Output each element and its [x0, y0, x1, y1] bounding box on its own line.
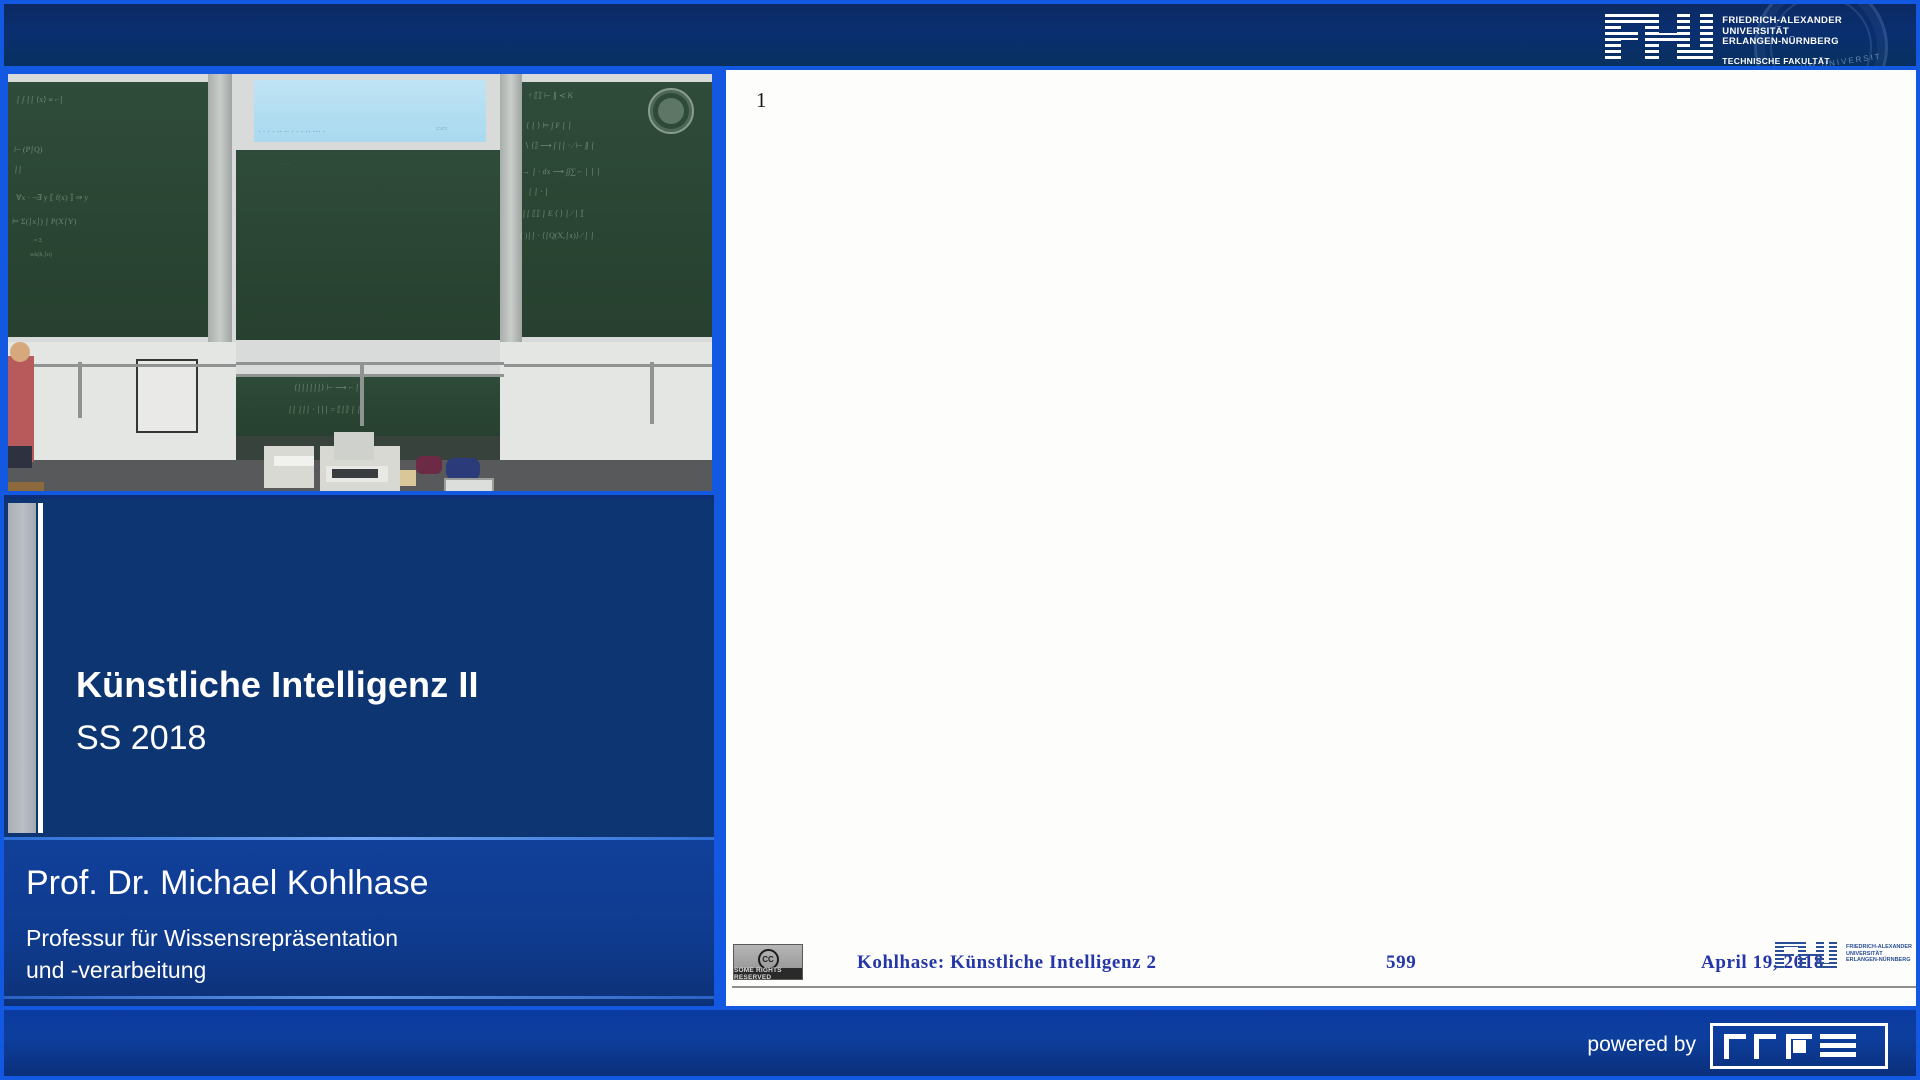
video-university-seal-icon — [648, 88, 694, 134]
fau-footer-line-2: UNIVERSITÄT — [1846, 951, 1883, 957]
slide-footer-title: Kohlhase: Künstliche Intelligenz 2 — [857, 952, 1157, 974]
fau-footer-line-3: ERLANGEN-NÜRNBERG — [1846, 957, 1910, 963]
department-line-1: Professur für Wissensrepräsentation — [26, 925, 398, 951]
player-window: SIGILLUM UNIVERSITATIS FRIDERICO FRIEDRI… — [0, 0, 1920, 1080]
fau-wordmark: FRIEDRICH-ALEXANDER UNIVERSITÄT ERLANGEN… — [1722, 14, 1842, 66]
rrze-logo-icon[interactable] — [1710, 1023, 1888, 1069]
lecturer-name: Prof. Dr. Michael Kohlhase — [26, 864, 429, 903]
fau-faculty: TECHNISCHE FAKULTÄT — [1722, 56, 1842, 67]
slide-footer: CC SOME RIGHTS RESERVED Kohlhase: Künstl… — [726, 938, 1920, 1006]
slide-content-area — [726, 120, 1920, 938]
fau-line-3: ERLANGEN-NÜRNBERG — [1722, 36, 1838, 47]
slide-number: 1 — [756, 88, 767, 113]
course-term: SS 2018 — [76, 719, 206, 758]
fau-line-2: UNIVERSITÄT — [1722, 26, 1789, 37]
fau-footer-line-1: FRIEDRICH-ALEXANDER — [1846, 944, 1912, 950]
slide-canvas[interactable]: 1 CC SOME RIGHTS RESERVED Kohlhase: Küns… — [726, 70, 1920, 1006]
app-header: SIGILLUM UNIVERSITATIS FRIDERICO FRIEDRI… — [4, 4, 1916, 70]
lecturer-pane: Prof. Dr. Michael Kohlhase Professur für… — [4, 840, 716, 1006]
accent-gray-bar — [8, 503, 36, 833]
slide-footer-rule — [732, 986, 1916, 988]
course-title-block: Künstliche Intelligenz II SS 2018 Prof. … — [4, 499, 716, 1006]
fau-logo-header: FRIEDRICH-ALEXANDER UNIVERSITÄT ERLANGEN… — [1605, 14, 1842, 66]
fau-logo-slide-footer: FRIEDRICH-ALEXANDER UNIVERSITÄT ERLANGEN… — [1775, 942, 1912, 969]
app-bottom-bar: powered by — [4, 1006, 1916, 1076]
powered-by-label: powered by — [1587, 1033, 1696, 1057]
left-column: ∣ ∫ ∣∣ ⟨x⟩ ≡ ⌐∣ ⊢ (P∣Q) ∣∣ ∀x · ¬∃ y ⟦ f… — [4, 70, 716, 1006]
fau-line-1: FRIEDRICH-ALEXANDER — [1722, 15, 1842, 26]
video-scene: ∣ ∫ ∣∣ ⟨x⟩ ≡ ⌐∣ ⊢ (P∣Q) ∣∣ ∀x · ¬∃ y ⟦ f… — [8, 74, 712, 491]
fau-wordmark-footer: FRIEDRICH-ALEXANDER UNIVERSITÄT ERLANGEN… — [1846, 942, 1912, 964]
cc-rights-label: SOME RIGHTS RESERVED — [734, 968, 802, 979]
title-pane: Künstliche Intelligenz II SS 2018 — [43, 499, 716, 839]
creative-commons-badge-icon: CC SOME RIGHTS RESERVED — [733, 944, 803, 980]
slide-panel[interactable]: 1 CC SOME RIGHTS RESERVED Kohlhase: Küns… — [714, 70, 1916, 1006]
lecturer-divider — [4, 996, 716, 999]
fau-mark-icon-footer — [1775, 942, 1837, 969]
lecture-video-feed[interactable]: ∣ ∫ ∣∣ ⟨x⟩ ≡ ⌐∣ ⊢ (P∣Q) ∣∣ ∀x · ¬∃ y ⟦ f… — [4, 70, 716, 495]
department-line-2: und -verarbeitung — [26, 957, 206, 983]
slide-footer-page-number: 599 — [1386, 952, 1416, 974]
fau-mark-icon — [1605, 14, 1713, 60]
course-title: Künstliche Intelligenz II — [76, 664, 479, 706]
lecturer-department: Professur für Wissensrepräsentation und … — [26, 922, 398, 986]
